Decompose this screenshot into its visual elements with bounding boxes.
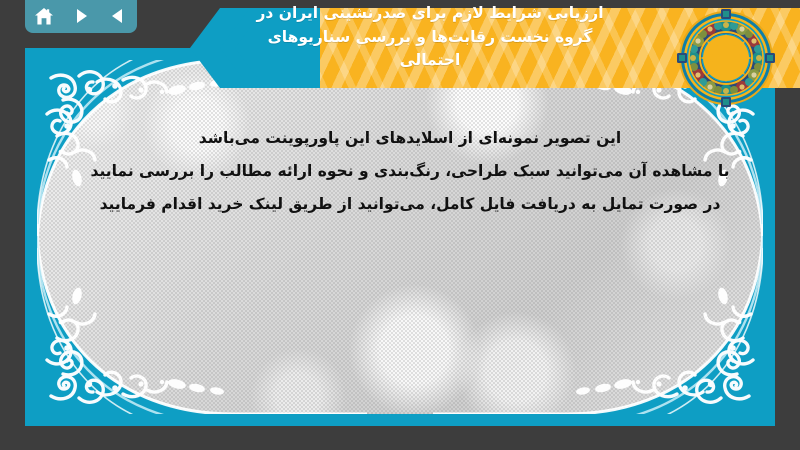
slide-body: این تصویر نمونه‌ای از اسلایدهای این پاور… bbox=[60, 128, 760, 215]
next-slide-button[interactable] bbox=[68, 4, 94, 28]
home-icon bbox=[34, 7, 54, 26]
body-line-1: این تصویر نمونه‌ای از اسلایدهای این پاور… bbox=[60, 128, 760, 149]
slide-title-line-1: ارزیابی شرایط لازم برای صدرنشینی ایران د… bbox=[195, 2, 665, 26]
slide-title-line-3: احتمالی bbox=[195, 49, 665, 73]
slide-title-line-2: گروه نخست رقابت‌ها و بررسی سناریوهای bbox=[195, 26, 665, 50]
presentation-slide bbox=[25, 48, 775, 426]
slide-navigation-bar bbox=[25, 0, 137, 33]
slide-canvas bbox=[37, 60, 763, 414]
slide-title: ارزیابی شرایط لازم برای صدرنشینی ایران د… bbox=[195, 2, 665, 73]
body-line-2: با مشاهده آن می‌توانید سبک طراحی، رنگ‌بن… bbox=[60, 161, 760, 182]
slide-viewer: ارزیابی شرایط لازم برای صدرنشینی ایران د… bbox=[0, 0, 800, 450]
home-button[interactable] bbox=[31, 4, 57, 28]
triangle-left-icon bbox=[109, 7, 127, 25]
persian-medallion-icon bbox=[676, 8, 776, 108]
previous-slide-button[interactable] bbox=[105, 4, 131, 28]
arabesque-corner-ornament-bottom-right bbox=[433, 224, 763, 414]
body-line-3: در صورت تمایل به دریافت فایل کامل، می‌تو… bbox=[60, 194, 760, 215]
triangle-right-icon bbox=[72, 7, 90, 25]
arabesque-corner-ornament-bottom-left bbox=[37, 224, 367, 414]
halftone-texture bbox=[37, 60, 763, 414]
